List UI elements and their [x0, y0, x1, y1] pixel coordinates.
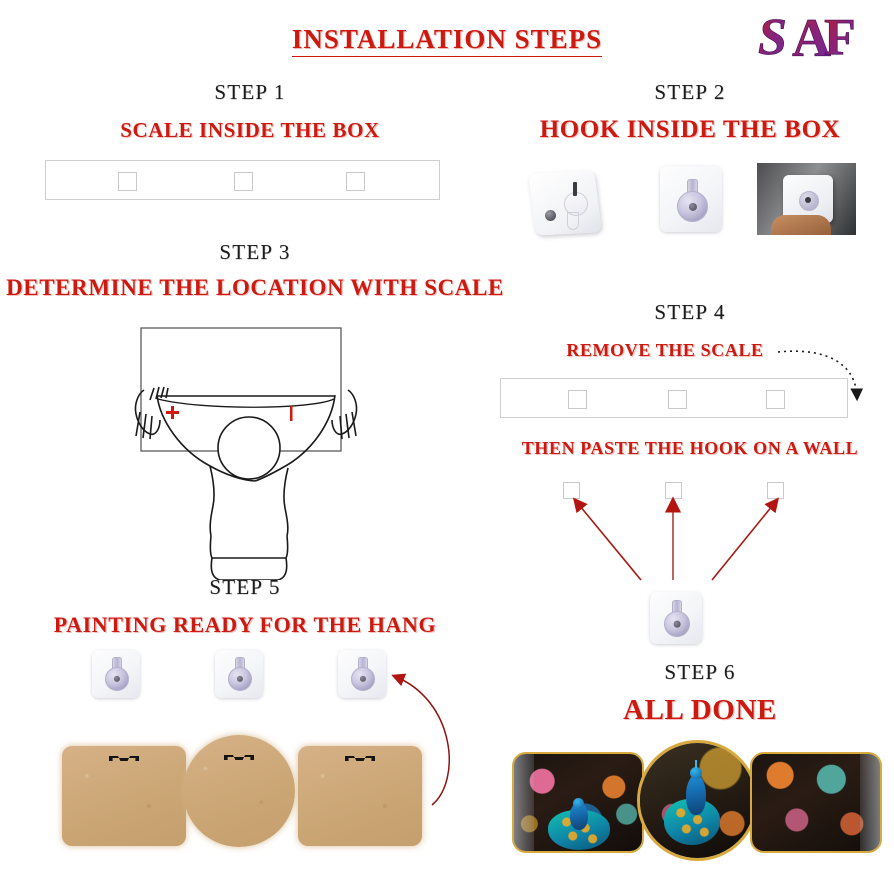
step-3-caption: DETERMINE THE LOCATION WITH SCALE: [5, 275, 505, 301]
ready-hook-3: [338, 650, 386, 698]
step-3-illustration: [110, 300, 400, 580]
step-6-caption: ALL DONE: [560, 694, 840, 727]
scale-marker-square: [118, 172, 137, 191]
mdf-board-circle: [183, 735, 295, 847]
wall-hook-graphic: [650, 592, 702, 644]
board-hanger-icon: [345, 754, 375, 763]
step-4-caption-2: THEN PASTE THE HOOK ON A WALL: [490, 438, 890, 459]
installation-steps-infographic: INSTALLATION STEPS S A F STEP 1 SCALE IN…: [0, 0, 894, 894]
scale-marker-square: [234, 172, 253, 191]
peacock-motif: [664, 765, 736, 847]
hook-photo-front: [660, 166, 722, 232]
peacock-motif: [548, 798, 614, 850]
mdf-board-rect-right: [298, 746, 422, 846]
board-hanger-icon: [224, 753, 254, 762]
svg-text:S: S: [758, 9, 787, 66]
mdf-board-rect-left: [62, 746, 186, 846]
board-hanger-icon: [109, 754, 139, 763]
brand-logo-icon: S A F: [756, 8, 882, 66]
step-2-label: STEP 2: [580, 80, 800, 105]
hook-photo-tilted: [528, 168, 608, 238]
ready-hook-1: [92, 650, 140, 698]
step-4-label: STEP 4: [580, 300, 800, 325]
step-3-label: STEP 3: [145, 240, 365, 265]
scale-marker-square: [668, 390, 687, 409]
step-1-label: STEP 1: [140, 80, 360, 105]
artwork-panel-left: [512, 752, 644, 853]
step-5-caption: PAINTING READY FOR THE HANG: [25, 612, 465, 638]
wall-marker-square: [665, 482, 682, 499]
hook-photo-in-hand: [757, 163, 856, 235]
person-holding-frame-icon: [110, 300, 400, 580]
scale-marker-square: [766, 390, 785, 409]
step-6-label: STEP 6: [590, 660, 810, 685]
artwork-panel-center: [637, 740, 758, 861]
step-2-caption: HOOK INSIDE THE BOX: [490, 116, 890, 144]
step-5-label: STEP 5: [135, 575, 355, 600]
wall-marker-square: [563, 482, 580, 499]
step-4-scale-strip: [500, 378, 848, 418]
ready-hook-2: [215, 650, 263, 698]
scale-marker-square: [568, 390, 587, 409]
step-4-caption: REMOVE THE SCALE: [500, 340, 830, 361]
paste-arrow-right: [712, 500, 777, 580]
artwork-panel-right: [750, 752, 882, 853]
brand-logo: S A F: [756, 8, 882, 66]
step-1-scale-strip: [45, 160, 440, 200]
svg-text:F: F: [824, 9, 856, 66]
page-title-text: INSTALLATION STEPS: [292, 24, 602, 57]
scale-marker-square: [346, 172, 365, 191]
wall-marker-square: [767, 482, 784, 499]
step-1-caption: SCALE INSIDE THE BOX: [60, 118, 440, 143]
paste-arrow-left: [575, 500, 641, 580]
